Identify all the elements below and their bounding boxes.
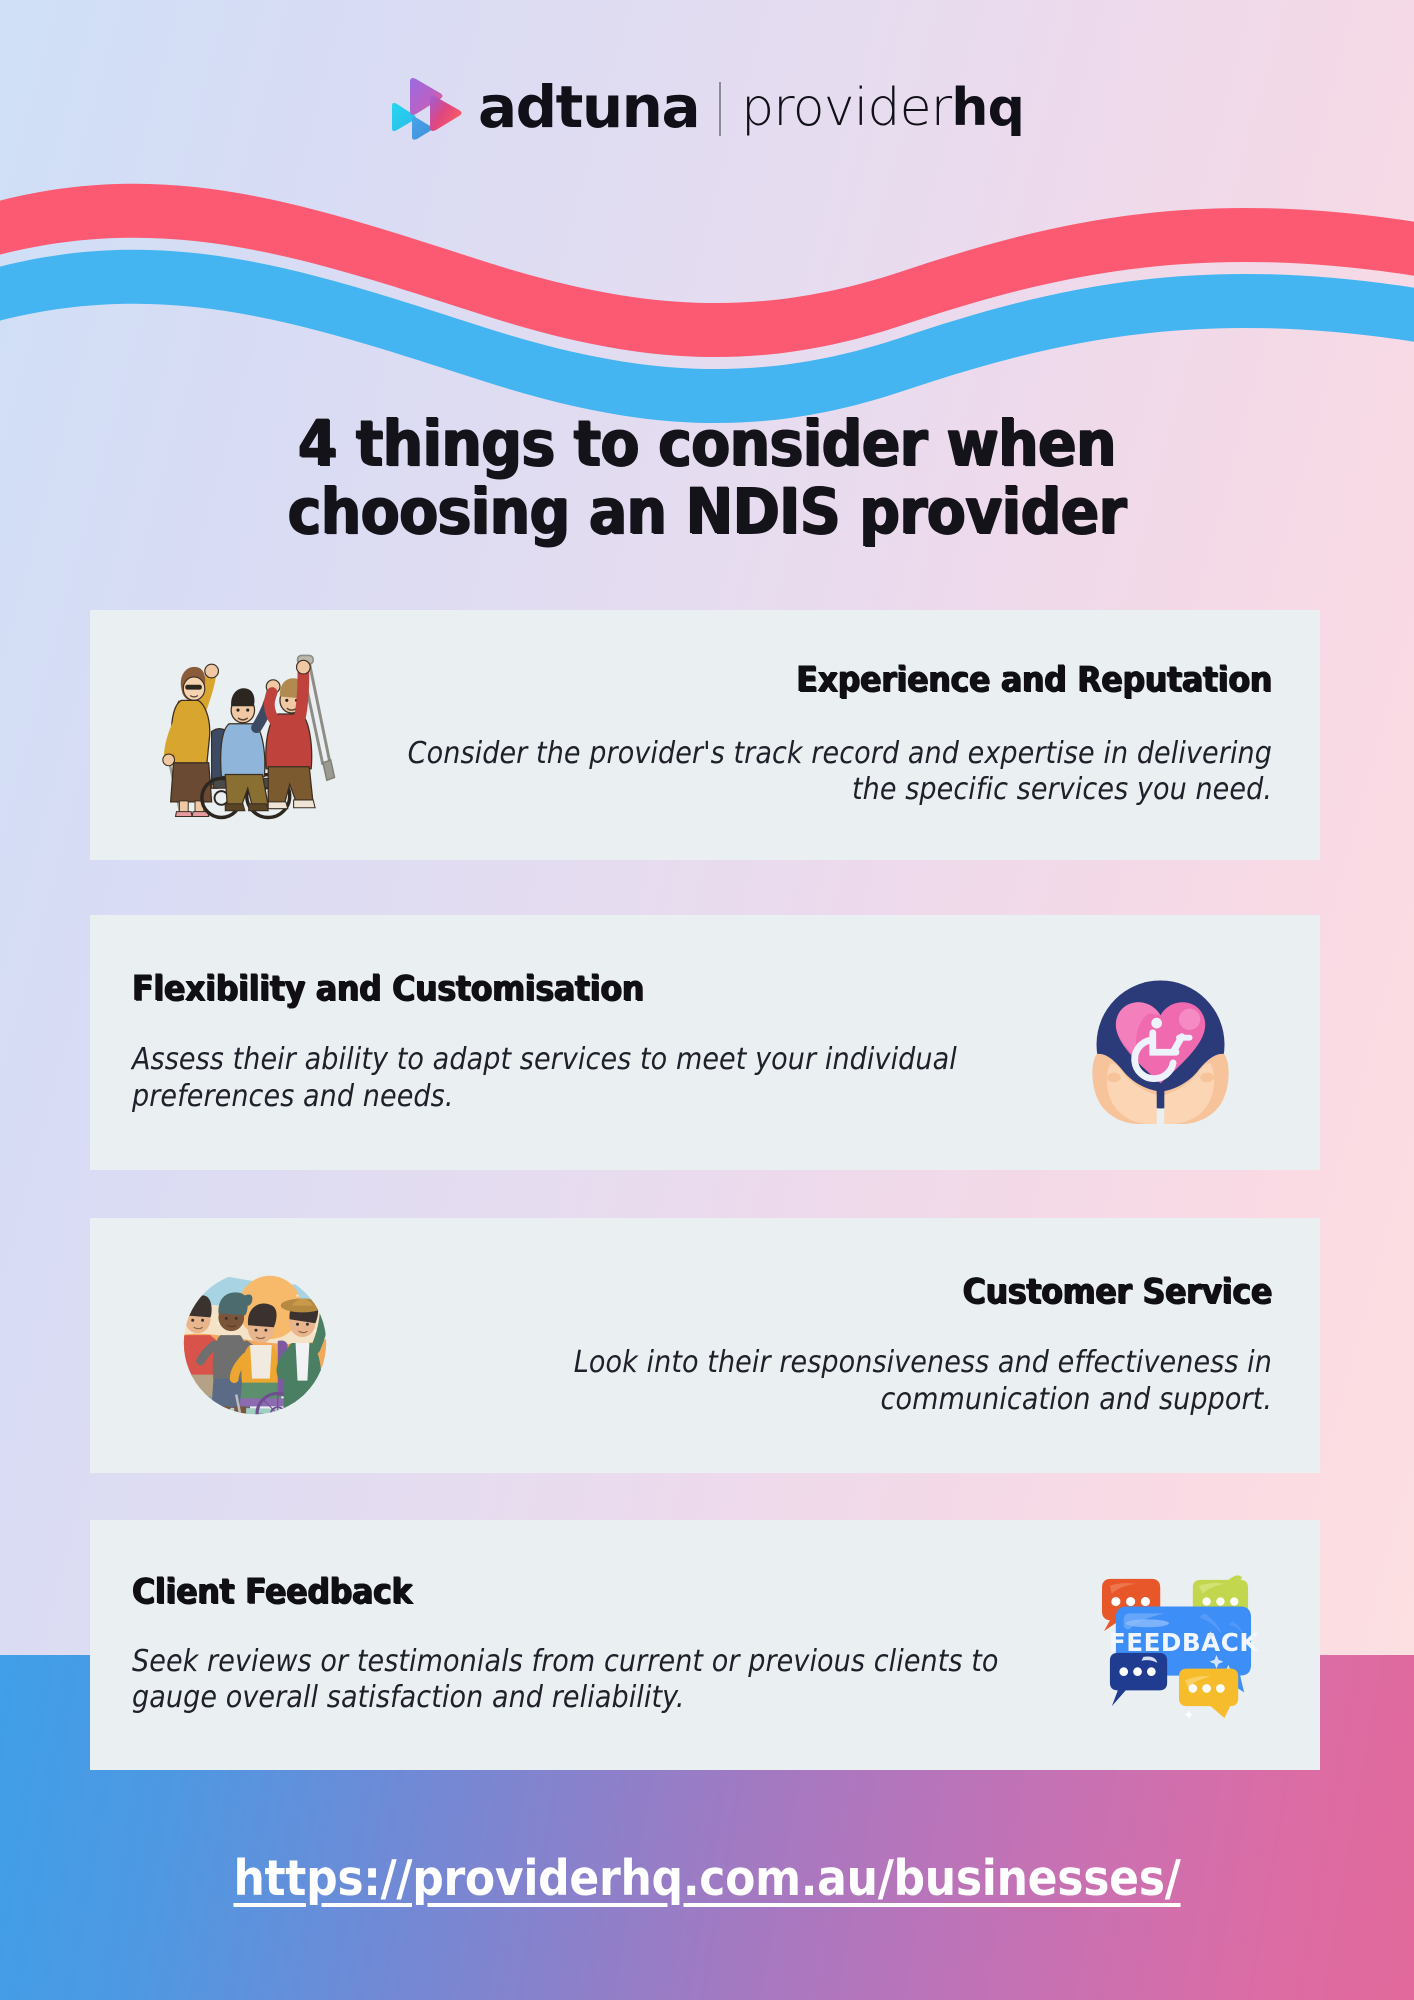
page-title-line-2: choosing an NDIS provider (288, 475, 1126, 548)
card-title: Flexibility and Customisation (132, 970, 1050, 1009)
tip-card-customer-service: Customer Service Look into their respons… (90, 1218, 1320, 1473)
card-title: Experience and Reputation (390, 661, 1272, 700)
card-text-block: Experience and Reputation Consider the p… (390, 661, 1320, 809)
feedback-speech-bubbles-illustration: FEEDBACK (1070, 1570, 1320, 1720)
tip-card-experience-and-reputation: Experience and Reputation Consider the p… (90, 610, 1320, 860)
card-text-block: Flexibility and Customisation Assess the… (90, 970, 1050, 1116)
tip-card-flexibility-and-customisation: Flexibility and Customisation Assess the… (90, 915, 1320, 1170)
logo-providerhq-bold-part: hq (951, 78, 1024, 138)
wave-decoration (0, 168, 1414, 388)
card-title: Customer Service (370, 1273, 1272, 1312)
card-body: Look into their responsiveness and effec… (370, 1345, 1272, 1418)
page-title-line-1: 4 things to consider when (298, 407, 1116, 480)
tip-card-client-feedback: Client Feedback Seek reviews or testimon… (90, 1520, 1320, 1770)
card-title: Client Feedback (132, 1573, 1070, 1612)
adtuna-triangles-logo-icon (390, 78, 462, 140)
page-title: 4 things to consider when choosing an ND… (0, 410, 1414, 546)
card-text-block: Client Feedback Seek reviews or testimon… (90, 1573, 1070, 1717)
card-body: Consider the provider's track record and… (390, 736, 1272, 809)
footer-link-container: https://providerhq.com.au/businesses/ (0, 1850, 1414, 1907)
people-celebrating-illustration (90, 649, 390, 821)
card-body: Seek reviews or testimonials from curren… (132, 1644, 1070, 1717)
website-url-link[interactable]: https://providerhq.com.au/businesses/ (233, 1850, 1180, 1907)
logo-providerhq-light-part: provider (741, 78, 951, 138)
svg-text:FEEDBACK: FEEDBACK (1108, 1628, 1258, 1657)
card-text-block: Customer Service Look into their respons… (370, 1273, 1320, 1419)
infographic-poster: adtuna providerhq 4 things to consider w… (0, 0, 1414, 2000)
hands-holding-heart-wheelchair-illustration (1050, 963, 1320, 1123)
logo-wordmark-adtuna: adtuna (478, 78, 699, 136)
card-body: Assess their ability to adapt services t… (132, 1042, 1050, 1115)
logo-divider (719, 82, 721, 136)
brand-logo[interactable]: adtuna providerhq (0, 78, 1414, 140)
logo-wordmark-providerhq: providerhq (741, 82, 1024, 134)
diverse-group-disability-illustration (90, 1258, 370, 1434)
